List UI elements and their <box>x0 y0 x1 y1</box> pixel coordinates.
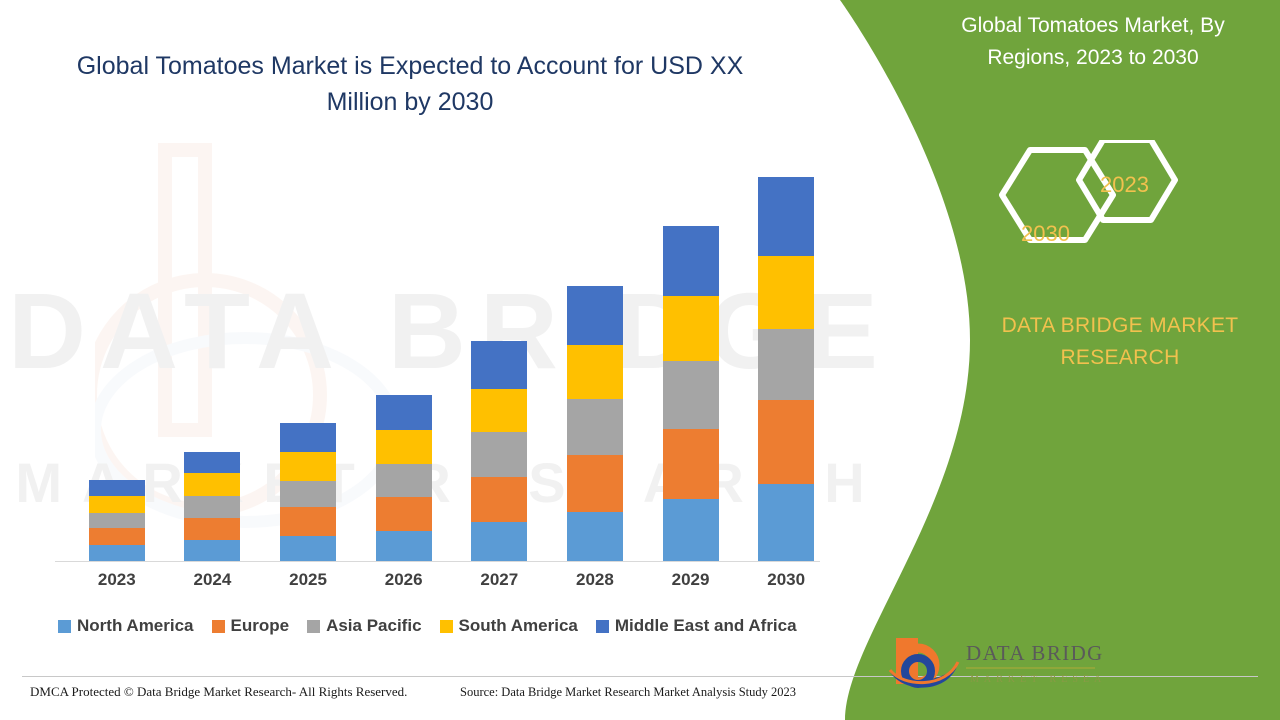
infographic-canvas: DATA BRIDGE MARKET RESEARCH Global Tomat… <box>0 0 1280 720</box>
bar-segment[interactable] <box>184 452 240 474</box>
bar-segment[interactable] <box>567 399 623 455</box>
chart-plot-area <box>55 150 820 562</box>
x-axis-label-2027: 2027 <box>459 570 539 590</box>
bar-segment[interactable] <box>567 455 623 512</box>
bar-segment[interactable] <box>280 536 336 561</box>
bar-segment[interactable] <box>471 522 527 561</box>
logo-mark-icon <box>890 638 958 688</box>
bar-column-2024[interactable] <box>184 452 240 561</box>
legend-item[interactable]: Asia Pacific <box>307 616 421 636</box>
x-axis-label-2024: 2024 <box>172 570 252 590</box>
legend-label: North America <box>77 616 194 636</box>
bar-column-2026[interactable] <box>376 395 432 561</box>
bar-segment[interactable] <box>184 473 240 496</box>
bar-segment[interactable] <box>376 464 432 497</box>
legend-swatch-icon <box>440 620 453 633</box>
panel-title: Global Tomatoes Market, By Regions, 2023… <box>928 10 1258 74</box>
bar-column-2023[interactable] <box>89 480 145 561</box>
bar-segment[interactable] <box>280 423 336 452</box>
hexagon-graphic <box>975 140 1185 280</box>
bar-column-2027[interactable] <box>471 341 527 561</box>
bar-segment[interactable] <box>471 432 527 476</box>
legend-swatch-icon <box>307 620 320 633</box>
bar-column-2030[interactable] <box>758 177 814 561</box>
bar-segment[interactable] <box>89 496 145 512</box>
bar-segment[interactable] <box>376 395 432 430</box>
bar-segment[interactable] <box>663 296 719 361</box>
bar-segment[interactable] <box>89 513 145 528</box>
bar-segment[interactable] <box>471 389 527 432</box>
bar-segment[interactable] <box>280 452 336 481</box>
legend-item[interactable]: Middle East and Africa <box>596 616 797 636</box>
x-axis-label-2029: 2029 <box>651 570 731 590</box>
footer-copyright: DMCA Protected © Data Bridge Market Rese… <box>30 684 407 700</box>
brand-name: DATA BRIDGE MARKET RESEARCH <box>960 310 1280 374</box>
legend-label: Asia Pacific <box>326 616 421 636</box>
bar-segment[interactable] <box>567 286 623 345</box>
bar-segment[interactable] <box>280 507 336 536</box>
bar-segment[interactable] <box>567 345 623 400</box>
legend-swatch-icon <box>596 620 609 633</box>
data-bridge-logo: DATA BRIDGE MARKET RESEARCH <box>888 632 1103 694</box>
bar-segment[interactable] <box>663 499 719 561</box>
legend-label: South America <box>459 616 578 636</box>
bar-segment[interactable] <box>758 256 814 329</box>
bar-column-2028[interactable] <box>567 286 623 561</box>
hexagon-label-2023: 2023 <box>1100 172 1149 198</box>
bar-column-2025[interactable] <box>280 423 336 561</box>
bar-segment[interactable] <box>89 528 145 544</box>
bar-segment[interactable] <box>663 429 719 499</box>
x-axis-label-2025: 2025 <box>268 570 348 590</box>
bar-segment[interactable] <box>89 480 145 496</box>
bar-segment[interactable] <box>758 400 814 483</box>
legend-label: Europe <box>231 616 290 636</box>
bar-segment[interactable] <box>184 518 240 541</box>
bar-segment[interactable] <box>663 361 719 429</box>
logo-text-line-2: MARKET RESEARCH <box>970 674 1103 685</box>
chart-baseline <box>55 561 820 562</box>
bar-segment[interactable] <box>89 545 145 561</box>
bar-segment[interactable] <box>376 497 432 531</box>
bar-segment[interactable] <box>184 496 240 518</box>
x-axis-label-2023: 2023 <box>77 570 157 590</box>
bar-segment[interactable] <box>758 484 814 561</box>
x-axis-label-2030: 2030 <box>746 570 826 590</box>
bar-segment[interactable] <box>376 430 432 464</box>
bar-segment[interactable] <box>758 177 814 256</box>
x-axis-label-2026: 2026 <box>364 570 444 590</box>
legend-item[interactable]: South America <box>440 616 578 636</box>
page-title: Global Tomatoes Market is Expected to Ac… <box>60 48 760 120</box>
footer-source: Source: Data Bridge Market Research Mark… <box>460 685 796 700</box>
hexagon-label-2030: 2030 <box>1021 221 1070 247</box>
legend-swatch-icon <box>58 620 71 633</box>
chart-legend: North AmericaEuropeAsia PacificSouth Ame… <box>58 616 838 636</box>
bar-segment[interactable] <box>758 329 814 400</box>
bar-segment[interactable] <box>471 341 527 389</box>
bar-segment[interactable] <box>567 512 623 561</box>
chart-x-axis: 20232024202520262027202820292030 <box>55 570 820 600</box>
bar-segment[interactable] <box>376 531 432 561</box>
legend-item[interactable]: North America <box>58 616 194 636</box>
legend-label: Middle East and Africa <box>615 616 797 636</box>
legend-item[interactable]: Europe <box>212 616 290 636</box>
bar-segment[interactable] <box>280 481 336 508</box>
logo-text-line-1: DATA BRIDGE <box>966 641 1103 665</box>
bar-segment[interactable] <box>471 477 527 522</box>
x-axis-label-2028: 2028 <box>555 570 635 590</box>
bar-segment[interactable] <box>184 540 240 561</box>
legend-swatch-icon <box>212 620 225 633</box>
bar-column-2029[interactable] <box>663 226 719 561</box>
bar-segment[interactable] <box>663 226 719 296</box>
